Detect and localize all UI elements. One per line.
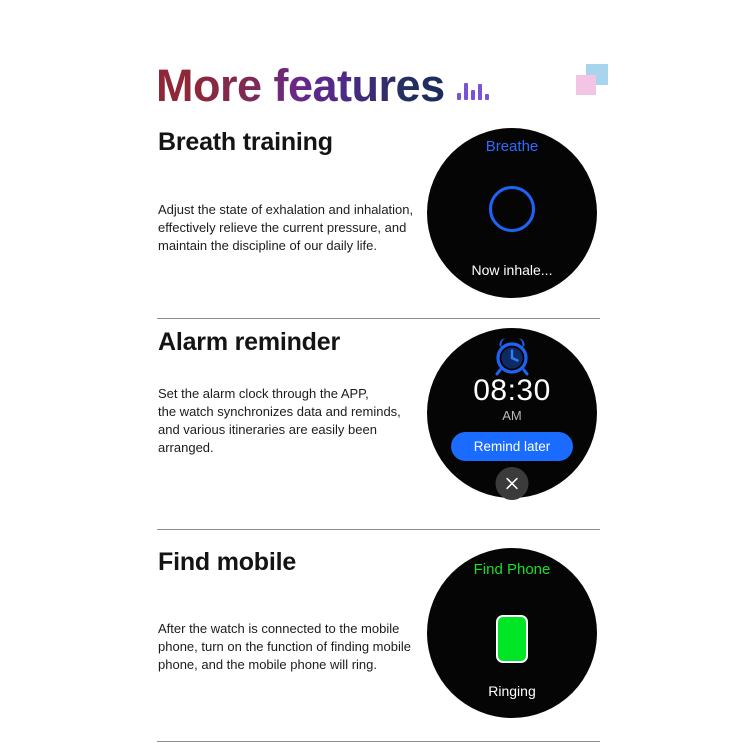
section-divider-1 bbox=[157, 318, 600, 319]
section-divider-3 bbox=[157, 741, 600, 742]
page-title: More features bbox=[156, 63, 445, 108]
breathe-title: Breathe bbox=[427, 138, 597, 155]
phone-icon bbox=[496, 615, 528, 663]
equalizer-bar-1 bbox=[457, 93, 461, 100]
remind-later-button[interactable]: Remind later bbox=[451, 432, 573, 461]
feature-heading: Breath training bbox=[158, 128, 438, 157]
feature-page: More features Breath training Adjust the… bbox=[0, 0, 750, 750]
feature-text-block: Find mobile After the watch is connected… bbox=[158, 548, 438, 674]
feature-description: Set the alarm clock through the APP, the… bbox=[158, 385, 438, 457]
alarm-time: 08:30 bbox=[427, 374, 597, 408]
decorative-square-pink bbox=[576, 75, 596, 95]
watch-screen: Breathe Now inhale... bbox=[427, 128, 597, 298]
watch-face-breathe: Breathe Now inhale... bbox=[427, 128, 597, 298]
breathe-status-text: Now inhale... bbox=[427, 262, 597, 278]
feature-description: After the watch is connected to the mobi… bbox=[158, 620, 438, 674]
page-header: More features bbox=[156, 63, 489, 108]
feature-text-block: Breath training Adjust the state of exha… bbox=[158, 128, 438, 255]
equalizer-bars-icon bbox=[457, 80, 489, 100]
watch-screen: Find Phone Ringing bbox=[427, 548, 597, 718]
equalizer-bar-5 bbox=[485, 94, 489, 100]
breathe-ring-icon bbox=[489, 186, 535, 232]
find-phone-title: Find Phone bbox=[427, 561, 597, 578]
find-phone-status-text: Ringing bbox=[427, 683, 597, 699]
section-divider-2 bbox=[157, 529, 600, 530]
watch-face-find-phone: Find Phone Ringing bbox=[427, 548, 597, 718]
equalizer-bar-2 bbox=[464, 83, 468, 100]
feature-text-block: Alarm reminder Set the alarm clock throu… bbox=[158, 328, 438, 457]
feature-heading: Alarm reminder bbox=[158, 328, 438, 357]
alarm-period: AM bbox=[427, 408, 597, 423]
equalizer-bar-3 bbox=[471, 90, 475, 100]
feature-heading: Find mobile bbox=[158, 548, 438, 577]
close-icon[interactable] bbox=[496, 467, 529, 500]
feature-description: Adjust the state of exhalation and inhal… bbox=[158, 201, 438, 255]
watch-face-alarm: 08:30 AM Remind later bbox=[427, 328, 597, 498]
decorative-squares bbox=[576, 64, 610, 96]
alarm-clock-icon bbox=[492, 336, 532, 376]
equalizer-bar-4 bbox=[478, 84, 482, 100]
